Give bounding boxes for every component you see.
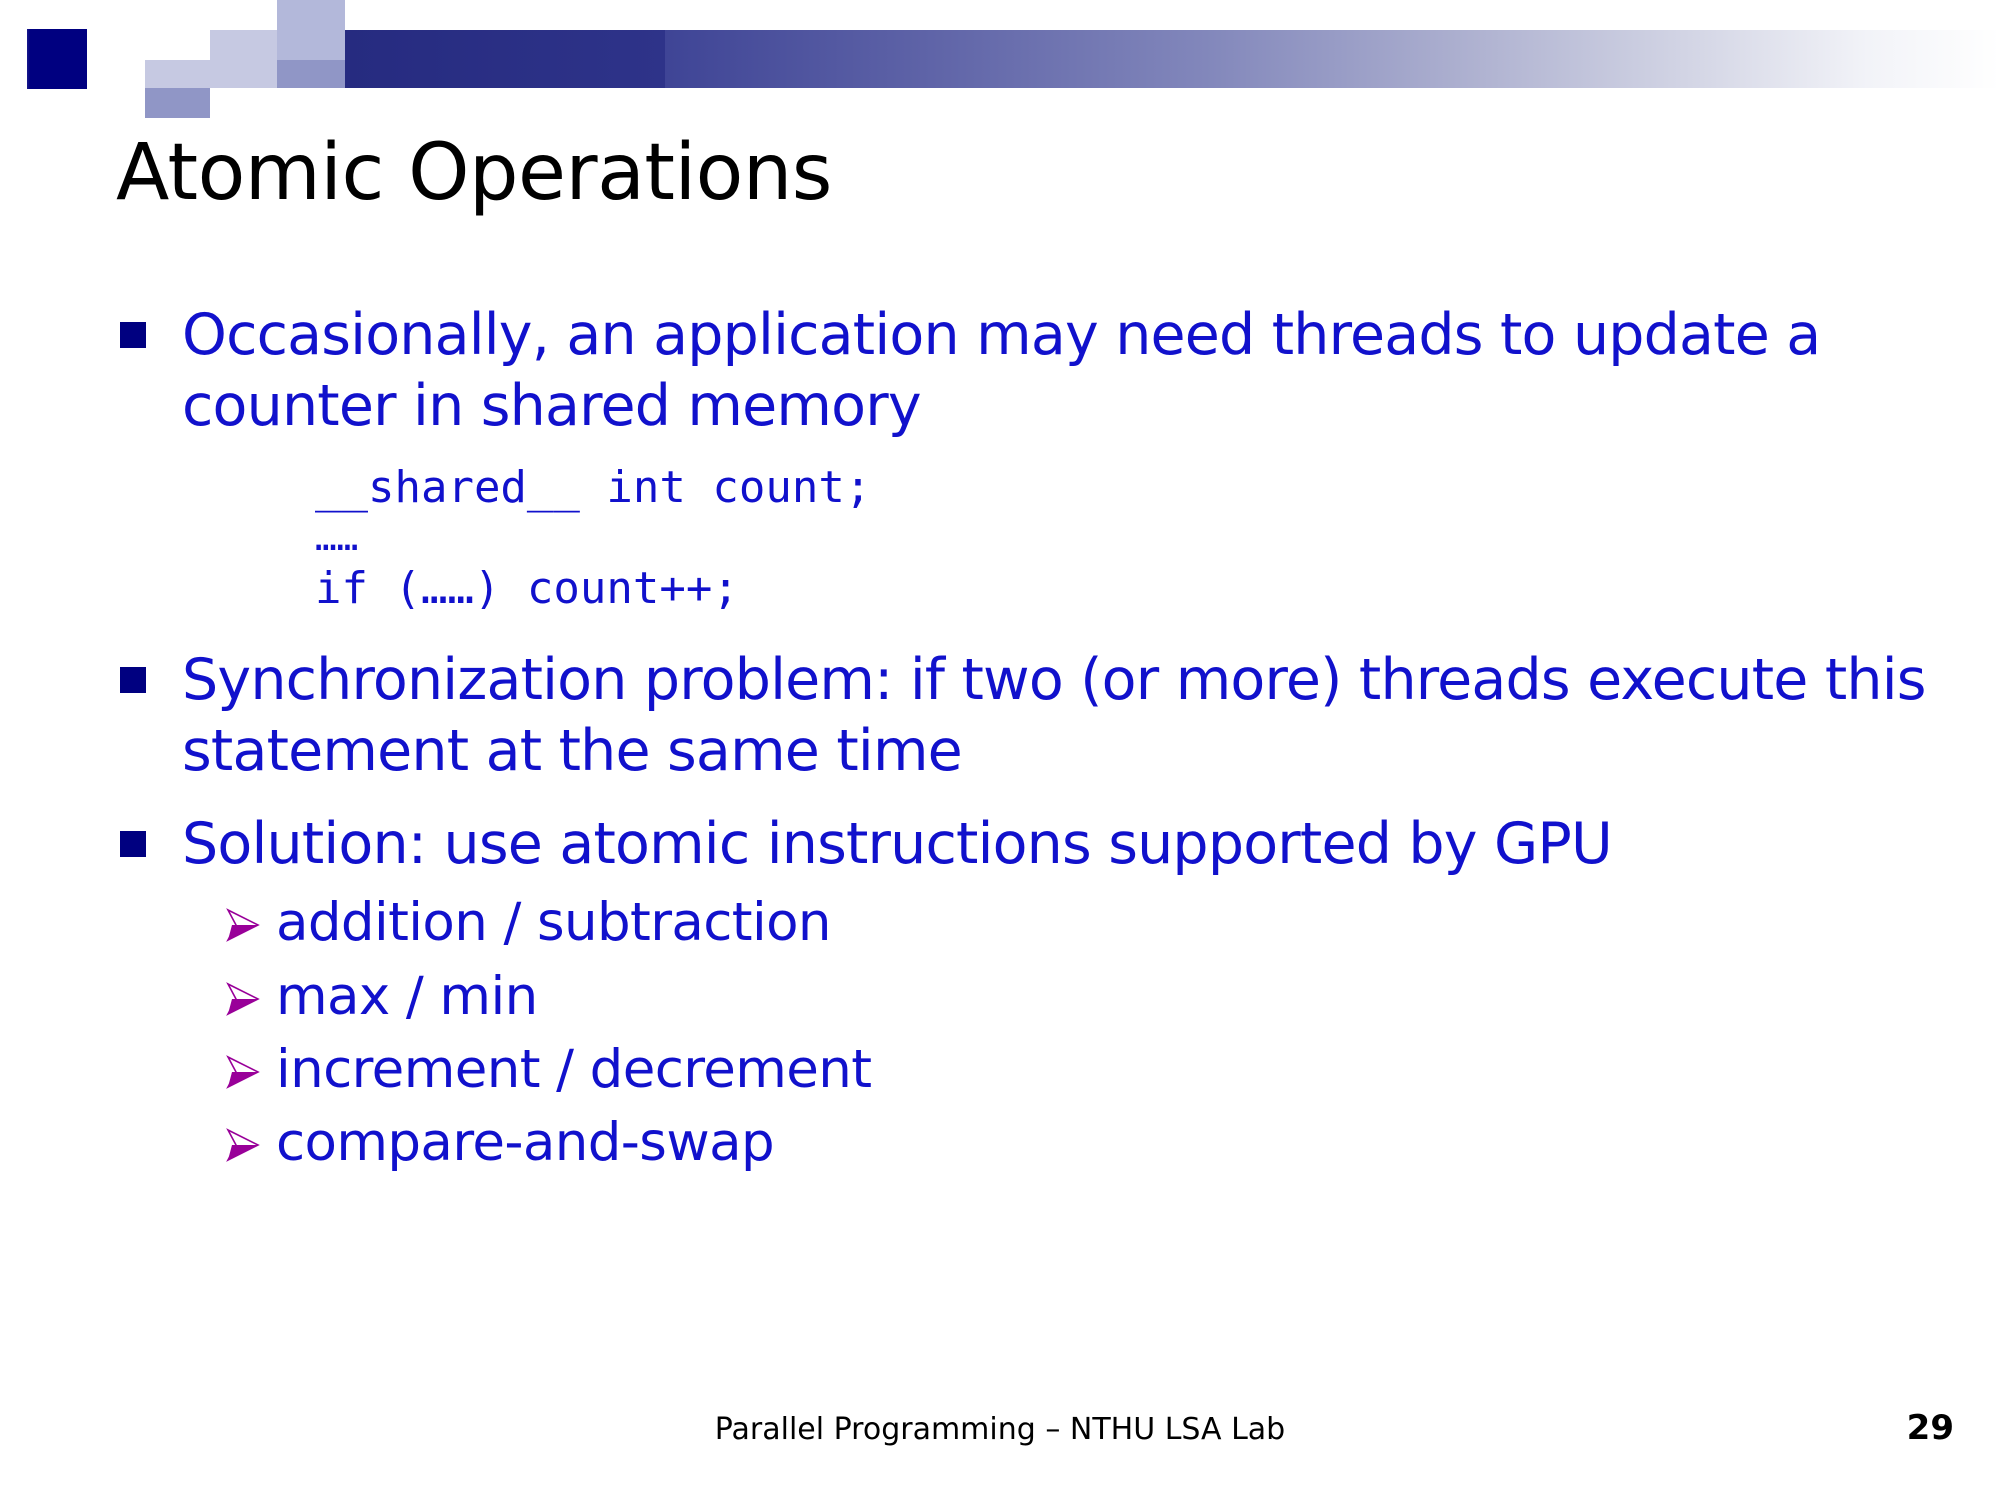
code-line-2: ……	[315, 517, 2000, 560]
deco-block-mid-b	[145, 88, 210, 118]
deco-block-tall-top	[277, 0, 345, 30]
subbullet-label-4: compare-and-swap	[276, 1106, 774, 1179]
deco-block-light-c	[145, 60, 210, 88]
square-bullet-icon	[120, 831, 146, 857]
subbullet-label-3: increment / decrement	[276, 1033, 871, 1106]
deco-left-fade	[0, 0, 30, 135]
arrow-bullet-icon	[218, 902, 264, 948]
deco-block-light-b	[210, 60, 277, 88]
slide-body: Occasionally, an application may need th…	[0, 300, 2000, 1179]
bullet-item-1: Occasionally, an application may need th…	[0, 300, 2000, 443]
arrow-bullet-icon	[218, 1122, 264, 1168]
header-decoration	[0, 0, 2000, 135]
slide-footer: Parallel Programming – NTHU LSA Lab	[0, 1412, 2000, 1447]
bullet-label-1: Occasionally, an application may need th…	[182, 300, 1942, 443]
deco-block-mid-a	[277, 60, 345, 88]
subbullet-item-2: max / min	[0, 960, 2000, 1033]
subbullet-item-4: compare-and-swap	[0, 1106, 2000, 1179]
square-bullet-icon	[120, 667, 146, 693]
header-bar-dark-segment	[345, 30, 665, 88]
subbullet-label-2: max / min	[276, 960, 538, 1033]
subbullet-item-1: addition / subtraction	[0, 886, 2000, 959]
code-line-1: __shared__ int count;	[315, 459, 2000, 518]
subbullet-label-1: addition / subtraction	[276, 886, 831, 959]
arrow-bullet-icon	[218, 1049, 264, 1095]
code-block-1: __shared__ int count; …… if (……) count++…	[0, 459, 2000, 619]
page-number: 29	[1907, 1408, 1954, 1448]
arrow-bullet-icon	[218, 976, 264, 1022]
code-line-3: if (……) count++;	[315, 560, 2000, 619]
bullet-label-2: Synchronization problem: if two (or more…	[182, 645, 1942, 788]
deco-block-light-a	[210, 30, 277, 60]
deco-block-tall-mid	[277, 30, 345, 60]
bullet-item-2: Synchronization problem: if two (or more…	[0, 645, 2000, 788]
deco-block-navy-square	[27, 29, 87, 89]
subbullet-item-3: increment / decrement	[0, 1033, 2000, 1106]
bullet-label-3: Solution: use atomic instructions suppor…	[182, 809, 1612, 880]
page-title: Atomic Operations	[116, 128, 832, 218]
square-bullet-icon	[120, 322, 146, 348]
bullet-item-3: Solution: use atomic instructions suppor…	[0, 809, 2000, 880]
